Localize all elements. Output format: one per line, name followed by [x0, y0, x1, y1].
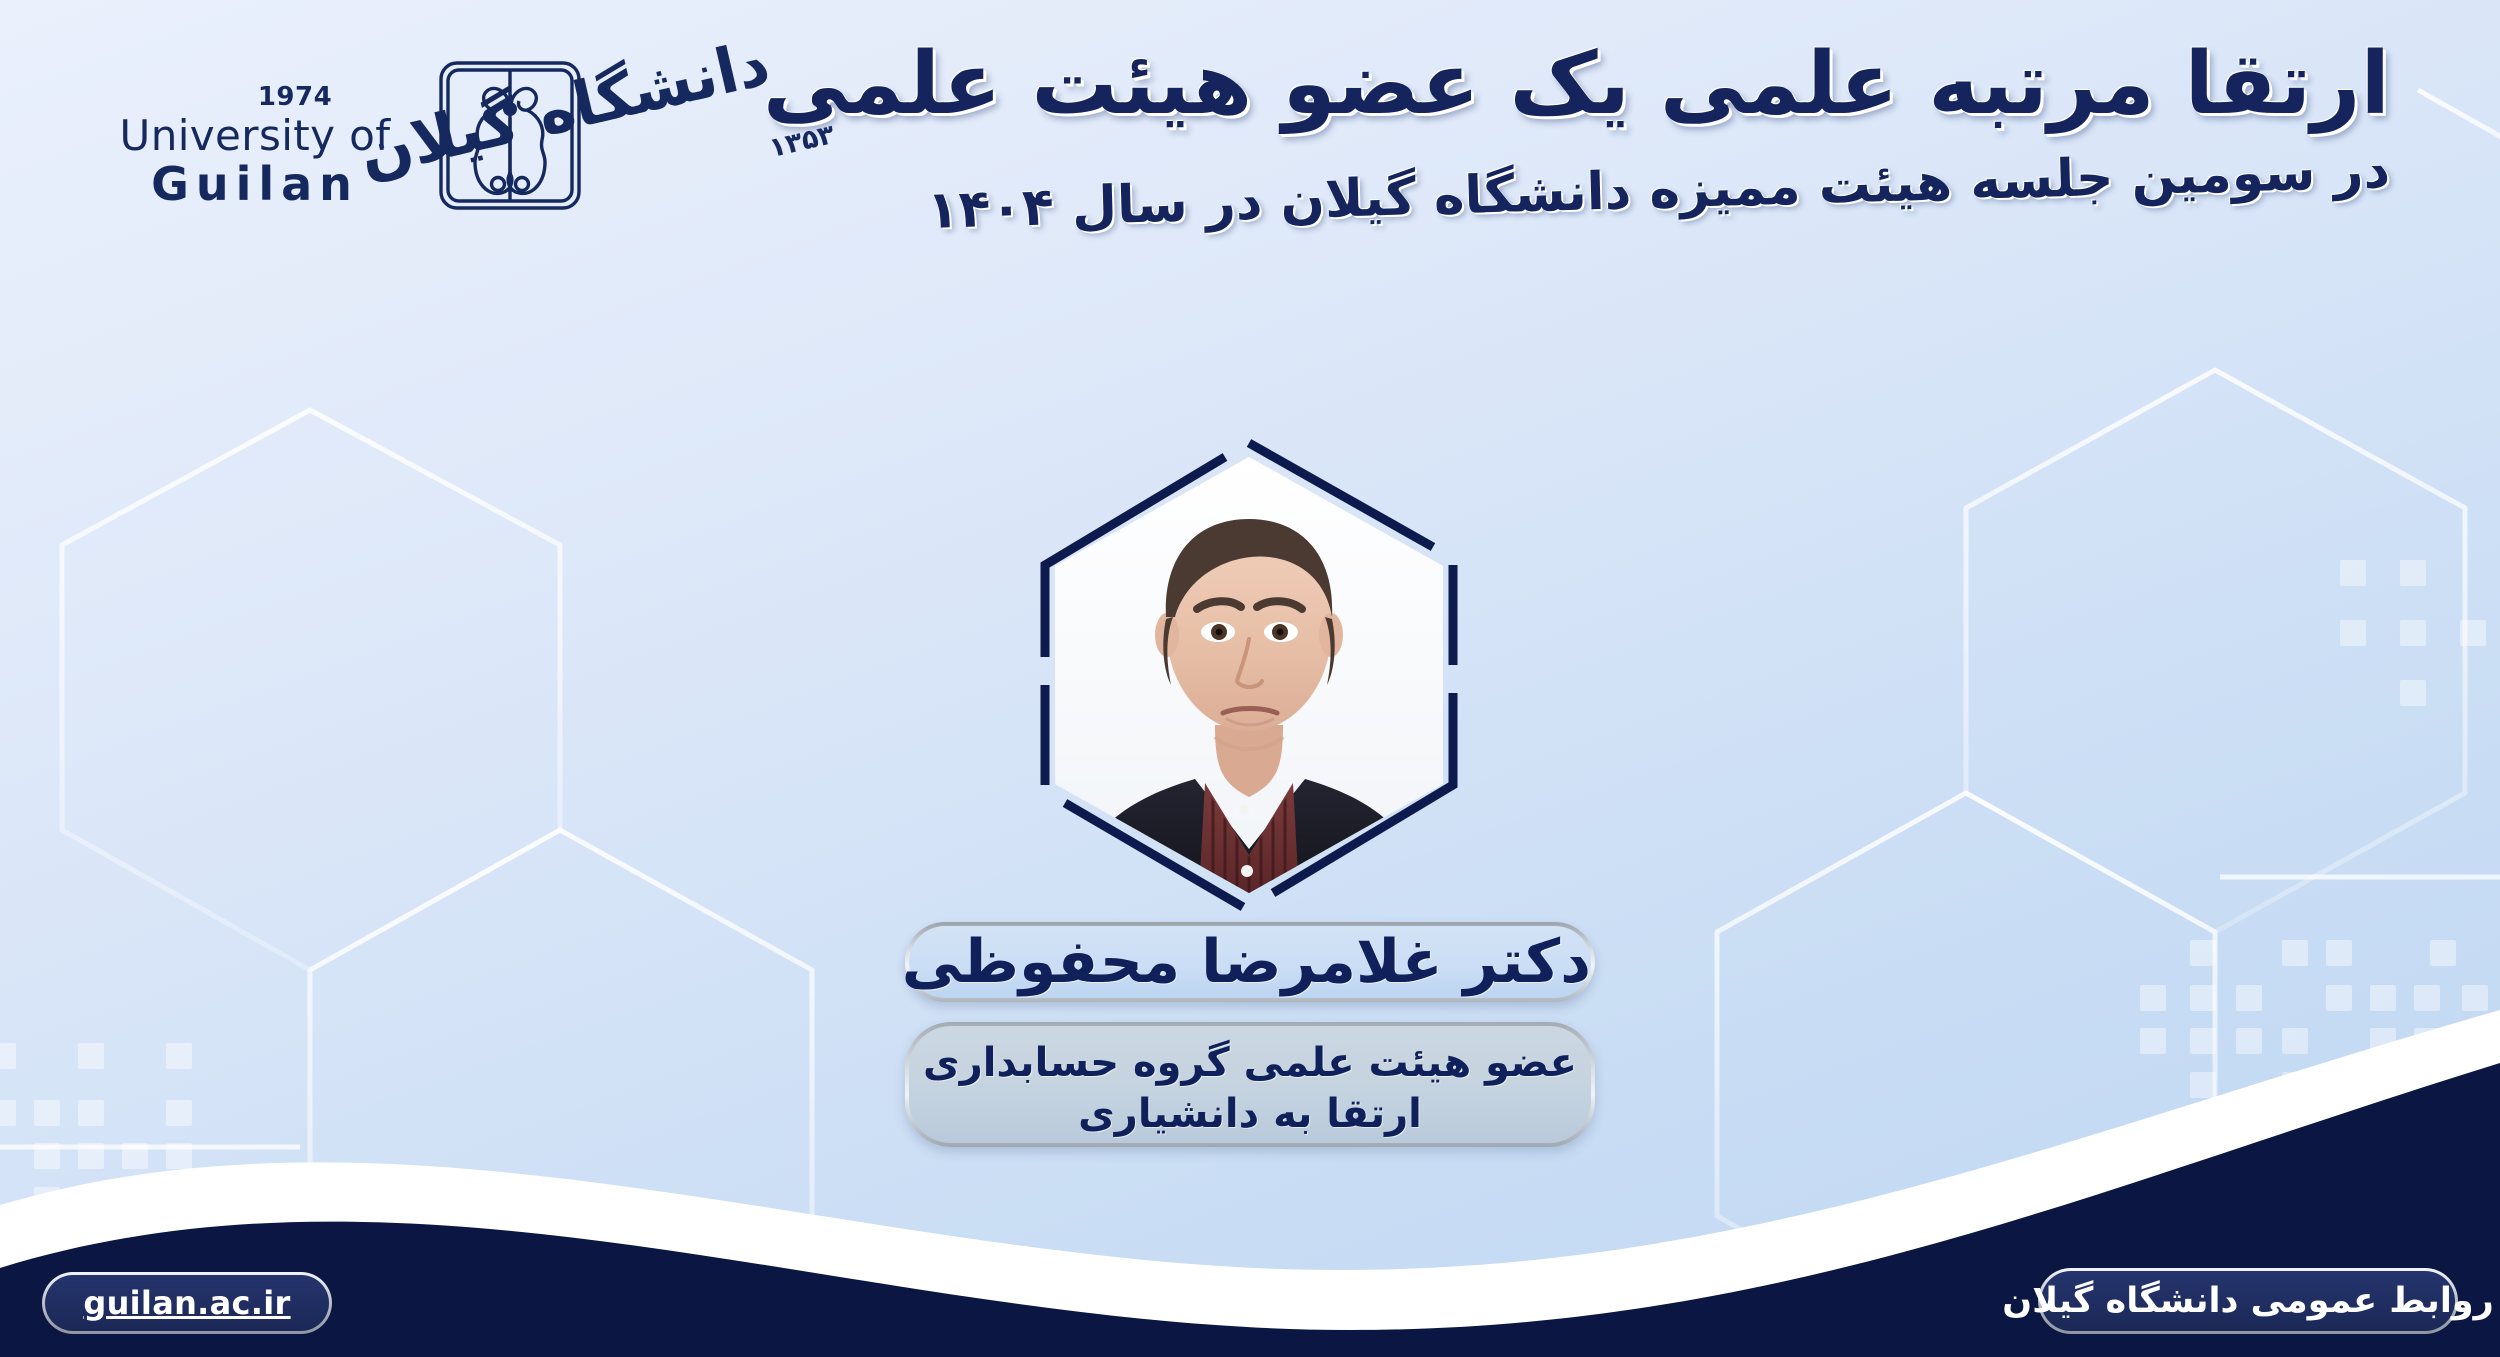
public-relations-label: روابط عمومی دانشگاه گیلان — [2002, 1281, 2493, 1321]
square-grid-upper-right — [2340, 560, 2500, 760]
person-role-badge: عضو هیئت علمی گروه حسابداری ارتقا به دان… — [905, 1022, 1595, 1147]
person-name-badge: دکتر غلامرضا محفوظی — [905, 922, 1595, 1002]
website-label: guilan.ac.ir — [83, 1284, 290, 1322]
page-title: ارتقا مرتبه علمی یک عضو هیئت علمی — [1090, 34, 2390, 135]
header-text-block: ارتقا مرتبه علمی یک عضو هیئت علمی در سوم… — [1090, 34, 2390, 202]
page-subtitle: در سومین جلسه هیئت ممیزه دانشگاه گیلان د… — [1090, 139, 2391, 238]
person-role-line-1: عضو هیئت علمی گروه حسابداری — [909, 1038, 1591, 1089]
poster-canvas: 1974 University of Guilan — [0, 0, 2500, 1357]
person-name: دکتر غلامرضا محفوظی — [909, 926, 1591, 998]
hexagon-frame-icon — [1029, 437, 1469, 913]
square-grid-right — [2190, 870, 2500, 1150]
website-pill[interactable]: guilan.ac.ir — [42, 1272, 332, 1334]
person-role-line-2: ارتقا به دانشیاری — [909, 1089, 1591, 1140]
public-relations-pill: روابط عمومی دانشگاه گیلان — [2038, 1268, 2458, 1334]
logo-year-en: 1974 — [90, 82, 420, 112]
square-grid-bottom-left — [0, 1015, 290, 1275]
portrait-container — [1029, 437, 1469, 913]
university-logo: 1974 University of Guilan — [90, 38, 850, 218]
